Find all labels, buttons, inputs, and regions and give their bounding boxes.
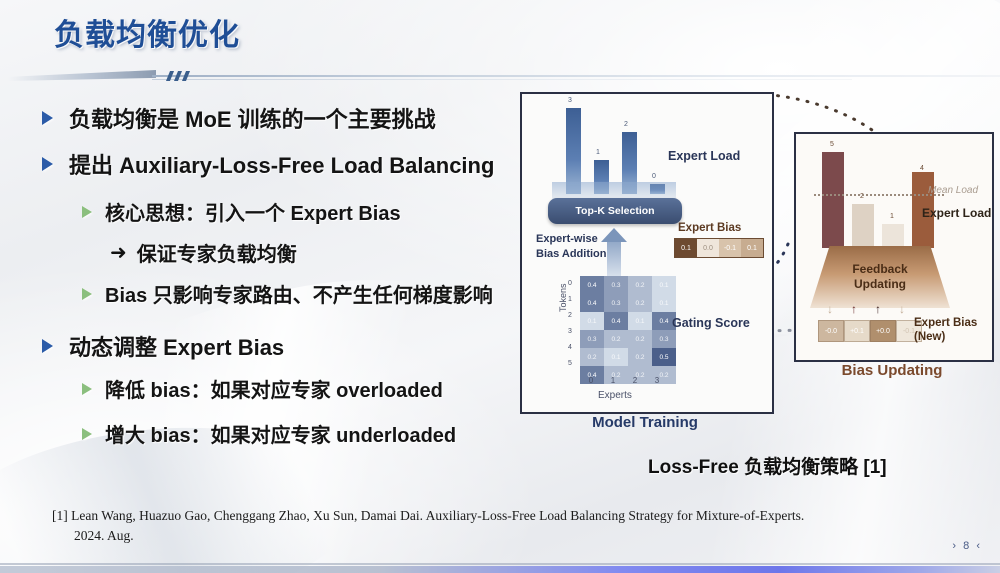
gating-score-label: Gating Score: [672, 316, 750, 330]
bullet-text: Bias 只影响专家路由、不产生任何梯度影响: [105, 279, 493, 308]
slide-canvas: 负载均衡优化 负载均衡是 MoE 训练的一个主要挑战 提出 Auxiliary-…: [0, 0, 1000, 573]
heatmap-cell: 0.2: [628, 276, 652, 294]
heatmap-row: 0.10.40.10.4: [580, 312, 676, 330]
figure-caption: Loss-Free 负载均衡策略 [1]: [648, 452, 887, 479]
bullet-item-0: 负载均衡是 MoE 训练的一个主要挑战: [42, 102, 436, 134]
bullet-item-7: 增大 bias：如果对应专家 underloaded: [82, 419, 456, 448]
bar-cap: 2: [624, 121, 628, 128]
expert-bias-label: Expert Bias: [678, 222, 741, 234]
bullet-item-1: 提出 Auxiliary-Loss-Free Load Balancing: [42, 148, 494, 180]
x-tick: 0: [580, 376, 602, 385]
title-divider: [0, 70, 1000, 82]
panel-bias-updating: 5 2 1 4 Mean Load Expert Load Feedback U…: [794, 132, 994, 362]
bullet-text: 核心思想：引入一个 Expert Bias: [105, 197, 401, 226]
feedback-updating-block: Feedback Updating: [810, 246, 950, 308]
bar: [822, 152, 844, 248]
bullet-item-6: 降低 bias：如果对应专家 overloaded: [82, 374, 443, 403]
bullet-item-2: 核心思想：引入一个 Expert Bias: [82, 197, 401, 226]
triangle-green-icon: [82, 383, 92, 395]
expert-load-bar-chart: 3 1 2 0: [560, 108, 668, 194]
label-line-1: Expert Bias: [914, 317, 977, 329]
bar: [622, 132, 637, 194]
bias-cell: -0.0: [818, 320, 844, 342]
y-tick: 1: [568, 292, 572, 308]
bias-update-arrows: ↓ ↑ ↑ ↓: [818, 300, 914, 318]
heatmap-y-ticks: 0 1 2 3 4 5: [568, 276, 572, 372]
arrow-up-icon: ↑: [866, 300, 890, 318]
y-tick: 3: [568, 324, 572, 340]
bullet-text: 动态调整 Expert Bias: [69, 330, 284, 362]
footnote-line-1: [1] Lean Wang, Huazuo Gao, Chenggang Zha…: [52, 506, 992, 526]
expert-load-label: Expert Load: [668, 149, 740, 163]
footnote-reference: [1] Lean Wang, Huazuo Gao, Chenggang Zha…: [52, 506, 992, 545]
arrow-right-icon: ➜: [110, 240, 127, 265]
heatmap-cell: 0.4: [604, 312, 628, 330]
bias-cell: 0.0: [697, 239, 719, 257]
triangle-green-icon: [82, 288, 92, 300]
panel-bias-updating-title: Bias Updating: [794, 362, 990, 379]
bullet-text: 负载均衡是 MoE 训练的一个主要挑战: [69, 102, 436, 134]
heatmap-cell: 0.3: [604, 294, 628, 312]
bullet-item-3: ➜ 保证专家负载均衡: [110, 238, 297, 267]
triangle-green-icon: [82, 206, 92, 218]
triangle-blue-icon: [42, 339, 53, 353]
bar: [882, 224, 904, 248]
expert-bias-new-label: Expert Bias (New): [914, 316, 977, 345]
heatmap-row: 0.30.20.20.3: [580, 330, 676, 348]
y-tick: 2: [568, 308, 572, 324]
bias-cell: 0.1: [675, 239, 697, 257]
x-tick: 3: [646, 376, 668, 385]
panel-model-training-title: Model Training: [520, 414, 770, 431]
page-number: › 8 ‹: [952, 540, 982, 552]
label-line-1: Feedback: [852, 262, 907, 276]
divider-line-main: [152, 75, 1000, 77]
heatmap-cell: 0.2: [604, 330, 628, 348]
divider-line-thin: [152, 79, 852, 80]
expert-bias-new-values-row: -0.0 +0.1 +0.0 -0.1: [818, 320, 922, 342]
y-tick: 4: [568, 340, 572, 356]
feedback-updating-label: Feedback Updating: [852, 262, 907, 292]
heatmap-cell: 0.1: [628, 312, 652, 330]
bullet-text: 保证专家负载均衡: [137, 238, 297, 267]
heatmap-cell: 0.4: [580, 294, 604, 312]
expert-wise-bias-addition-label: Expert-wise Bias Addition: [536, 232, 606, 262]
figure-loss-free-load-balancing: 3 1 2 0 Expert Load Top-K Selection Expe…: [520, 92, 990, 432]
expert-bias-values-row: 0.1 0.0 -0.1 0.1: [674, 238, 764, 258]
heatmap-x-axis-label: Experts: [598, 390, 632, 401]
heatmap-row: 0.20.10.20.5: [580, 348, 676, 366]
divider-wedge: [8, 70, 156, 81]
bias-cell: 0.1: [741, 239, 763, 257]
bar-cap: 0: [652, 173, 656, 180]
bar-value: 1: [890, 213, 894, 220]
heatmap-cell: 0.2: [580, 348, 604, 366]
bar: [852, 204, 874, 248]
bias-cell: -0.1: [719, 239, 741, 257]
page-marker-right: ‹: [976, 540, 982, 552]
arrow-up-icon: ↑: [842, 300, 866, 318]
x-tick: 1: [602, 376, 624, 385]
heatmap-cell: 0.2: [628, 348, 652, 366]
mean-load-line: [814, 194, 944, 196]
bullet-text: 降低 bias：如果对应专家 overloaded: [105, 374, 443, 403]
bar-cap: 3: [568, 97, 572, 104]
heatmap-row: 0.40.30.20.1: [580, 294, 676, 312]
arrow-down-icon: ↓: [890, 300, 914, 318]
x-tick: 2: [624, 376, 646, 385]
bullet-item-4: Bias 只影响专家路由、不产生任何梯度影响: [82, 279, 493, 308]
heatmap-cell: 0.2: [628, 294, 652, 312]
label-line-2: (New): [914, 331, 945, 343]
bottom-accent-bar: [0, 566, 1000, 573]
triangle-blue-icon: [42, 111, 53, 125]
y-tick: 0: [568, 276, 572, 292]
page-marker-left: ›: [952, 540, 958, 552]
expert-load-bar-chart-new: 5 2 1 4: [818, 152, 938, 248]
bias-cell: +0.1: [844, 320, 870, 342]
bullet-text: 提出 Auxiliary-Loss-Free Load Balancing: [69, 148, 494, 180]
label-line-2: Updating: [854, 277, 906, 291]
heatmap-cell: 0.1: [652, 294, 676, 312]
page-title: 负载均衡优化: [54, 10, 240, 54]
triangle-blue-icon: [42, 157, 53, 171]
bar: [594, 160, 609, 194]
gating-score-heatmap: 0.40.30.20.10.40.30.20.10.10.40.10.40.30…: [580, 276, 676, 384]
heatmap-x-ticks: 0 1 2 3: [580, 376, 668, 385]
label-line-2: Bias Addition: [536, 248, 606, 260]
triangle-green-icon: [82, 428, 92, 440]
bottom-divider: [0, 563, 1000, 565]
panel-model-training: 3 1 2 0 Expert Load Top-K Selection Expe…: [520, 92, 774, 414]
bias-cell: +0.0: [870, 320, 896, 342]
bar-value: 5: [830, 141, 834, 148]
mean-load-label: Mean Load: [928, 185, 978, 196]
topk-selection-box: Top-K Selection: [548, 198, 682, 224]
bar-value: 4: [920, 165, 924, 172]
y-tick: 5: [568, 356, 572, 372]
footnote-line-2: 2024. Aug.: [74, 526, 992, 546]
bar: [650, 184, 665, 194]
heatmap-cell: 0.4: [580, 276, 604, 294]
heatmap-cell: 0.3: [652, 330, 676, 348]
arrow-down-icon: ↓: [818, 300, 842, 318]
label-line-1: Expert-wise: [536, 233, 598, 245]
heatmap-cell: 0.2: [628, 330, 652, 348]
expert-load-label-new: Expert Load: [922, 206, 991, 220]
bullet-item-5: 动态调整 Expert Bias: [42, 330, 284, 362]
heatmap-cell: 0.1: [580, 312, 604, 330]
heatmap-row: 0.40.30.20.1: [580, 276, 676, 294]
heatmap-cell: 0.1: [604, 348, 628, 366]
heatmap-cell: 0.1: [652, 276, 676, 294]
bullet-text: 增大 bias：如果对应专家 underloaded: [105, 419, 456, 448]
bar: [566, 108, 581, 194]
heatmap-cell: 0.3: [580, 330, 604, 348]
bar-cap: 1: [596, 149, 600, 156]
heatmap-y-axis-label: Tokens: [558, 283, 568, 312]
page-number-value: 8: [963, 540, 971, 552]
heatmap-cell: 0.3: [604, 276, 628, 294]
heatmap-cell: 0.5: [652, 348, 676, 366]
